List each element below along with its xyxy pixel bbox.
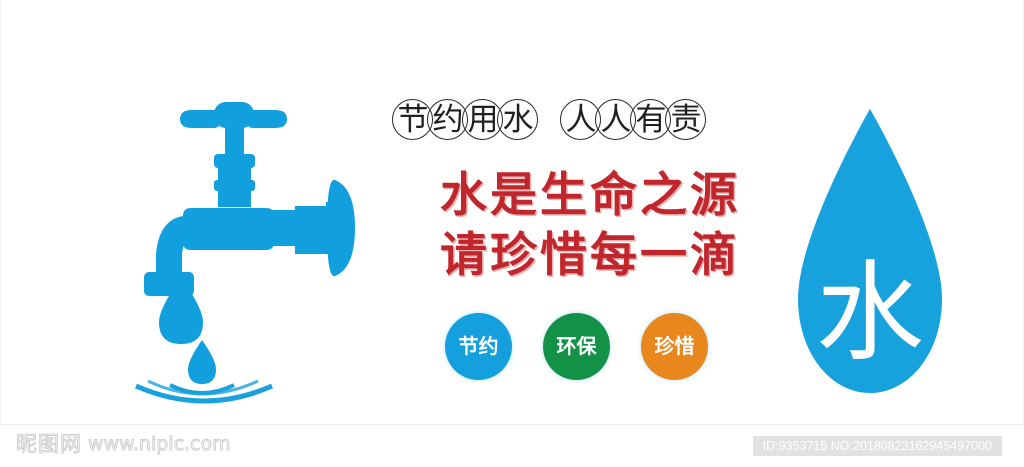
slogan-char-label: 用 bbox=[468, 105, 499, 136]
badge-jieyue[interactable]: 节约 bbox=[445, 313, 512, 380]
slogan-char-label: 有 bbox=[636, 105, 667, 136]
keyword-badges: 节约 环保 珍惜 bbox=[445, 311, 725, 381]
slogan-group-1: 节 约 用 水 bbox=[392, 98, 532, 142]
faucet-icon bbox=[130, 88, 404, 410]
headline-line-2: 请珍惜每一滴 bbox=[404, 226, 776, 286]
waterdrop-illustration: 水 bbox=[790, 105, 950, 400]
top-slogan: 节 约 用 水 人 人 bbox=[392, 95, 782, 145]
slogan-char-1: 节 bbox=[392, 98, 434, 142]
watermark-brand: 昵图网 www.nipic.com bbox=[16, 434, 231, 455]
image-id-badge: ID:9353715 NO:20180823162945497000 bbox=[753, 436, 1002, 456]
headline-block: 水是生命之源 请珍惜每一滴 bbox=[404, 166, 776, 286]
badge-label: 珍惜 bbox=[655, 336, 695, 356]
slogan-char-label: 人 bbox=[566, 105, 597, 136]
slogan-char-5: 人 bbox=[560, 98, 602, 142]
badge-huanbao[interactable]: 环保 bbox=[543, 313, 610, 380]
nipic-logo: 昵图网 bbox=[16, 434, 82, 455]
headline-line-1: 水是生命之源 bbox=[404, 166, 776, 226]
badge-label: 环保 bbox=[557, 336, 597, 356]
slogan-group-2: 人 人 有 责 bbox=[560, 98, 700, 142]
slogan-char-label: 节 bbox=[398, 105, 429, 136]
water-drop-icon bbox=[790, 105, 950, 400]
slogan-char-2: 约 bbox=[427, 98, 469, 142]
slogan-char-label: 人 bbox=[601, 105, 632, 136]
badge-label: 节约 bbox=[459, 336, 499, 356]
slogan-char-label: 责 bbox=[671, 105, 702, 136]
slogan-char-6: 人 bbox=[595, 98, 637, 142]
nipic-url: www.nipic.com bbox=[88, 435, 231, 454]
watermark-bar: 昵图网 www.nipic.com ID:9353715 NO:20180823… bbox=[0, 424, 1024, 467]
poster-canvas: 节 约 用 水 人 人 bbox=[0, 0, 1024, 467]
slogan-char-label: 水 bbox=[503, 105, 534, 136]
slogan-char-8: 责 bbox=[665, 98, 707, 142]
slogan-char-7: 有 bbox=[630, 98, 672, 142]
slogan-char-label: 约 bbox=[433, 105, 464, 136]
badge-zhenxi[interactable]: 珍惜 bbox=[641, 313, 708, 380]
faucet-illustration bbox=[130, 88, 404, 410]
left-edge-line bbox=[0, 0, 1, 467]
slogan-char-4: 水 bbox=[497, 98, 539, 142]
slogan-char-3: 用 bbox=[462, 98, 504, 142]
